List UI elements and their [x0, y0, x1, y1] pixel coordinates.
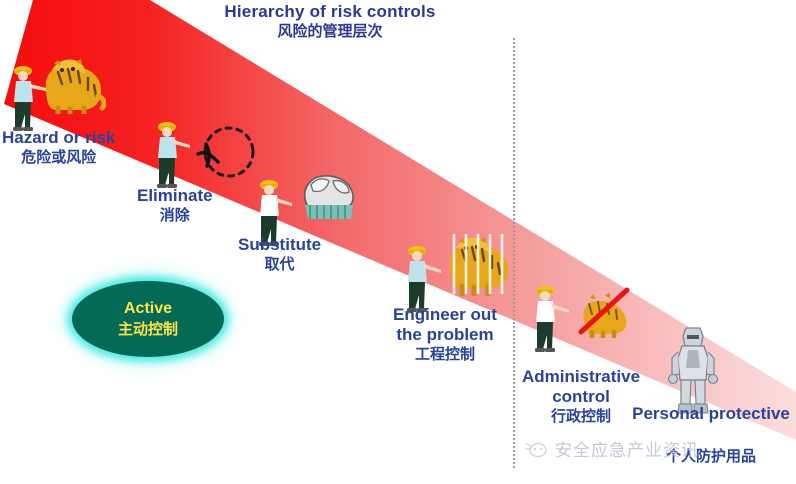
tiger-icon — [40, 52, 106, 114]
active-badge-cn: 主动控制 — [118, 321, 178, 339]
stage-eliminate-en: Eliminate — [137, 186, 213, 206]
stage-substitute-en: Substitute — [238, 235, 321, 255]
stage-label-substitute: Substitute 取代 — [238, 235, 321, 274]
stage-engineer-cn: 工程控制 — [386, 346, 504, 364]
stage-label-administrative: Administrative control 行政控制 — [520, 367, 642, 426]
caged-tiger-icon — [440, 228, 514, 296]
mascot-circle-icon — [525, 440, 549, 458]
stage-substitute-cn: 取代 — [238, 256, 321, 274]
stage-eliminate-cn: 消除 — [137, 207, 213, 225]
diagram-canvas: Hierarchy of risk controls 风险的管理层次 — [0, 0, 796, 484]
stage-hazard-cn: 危险或风险 — [2, 149, 115, 167]
stage-engineer-en: Engineer out the problem — [386, 305, 504, 345]
stage-label-eliminate: Eliminate 消除 — [137, 186, 213, 225]
stage-ppe-en: Personal protective — [630, 404, 792, 424]
rock-boulder-icon — [299, 165, 361, 225]
page-title: Hierarchy of risk controls 风险的管理层次 — [180, 2, 480, 40]
stage-administrative-cn: 行政控制 — [520, 408, 642, 426]
worker-figure-engineer-icon — [400, 242, 442, 314]
stage-hazard-en: Hazard or risk — [2, 128, 115, 148]
stage-label-engineer: Engineer out the problem 工程控制 — [386, 305, 504, 364]
title-english: Hierarchy of risk controls — [180, 2, 480, 22]
active-badge-en: Active — [124, 299, 172, 318]
title-chinese: 风险的管理层次 — [180, 23, 480, 40]
worker-figure-eliminate-icon — [150, 118, 190, 190]
watermark-text: 安全应急产业资讯 — [555, 436, 699, 461]
dashed-circle-crossed-icon — [196, 122, 258, 184]
stage-administrative-en: Administrative control — [520, 367, 642, 407]
worker-figure-administrative-icon — [528, 282, 570, 354]
watermark: 安全应急产业资讯 — [452, 436, 772, 461]
active-control-badge: Active 主动控制 — [72, 281, 224, 357]
no-tiger-sign-icon — [576, 286, 632, 338]
stage-label-hazard: Hazard or risk 危险或风险 — [2, 128, 115, 167]
